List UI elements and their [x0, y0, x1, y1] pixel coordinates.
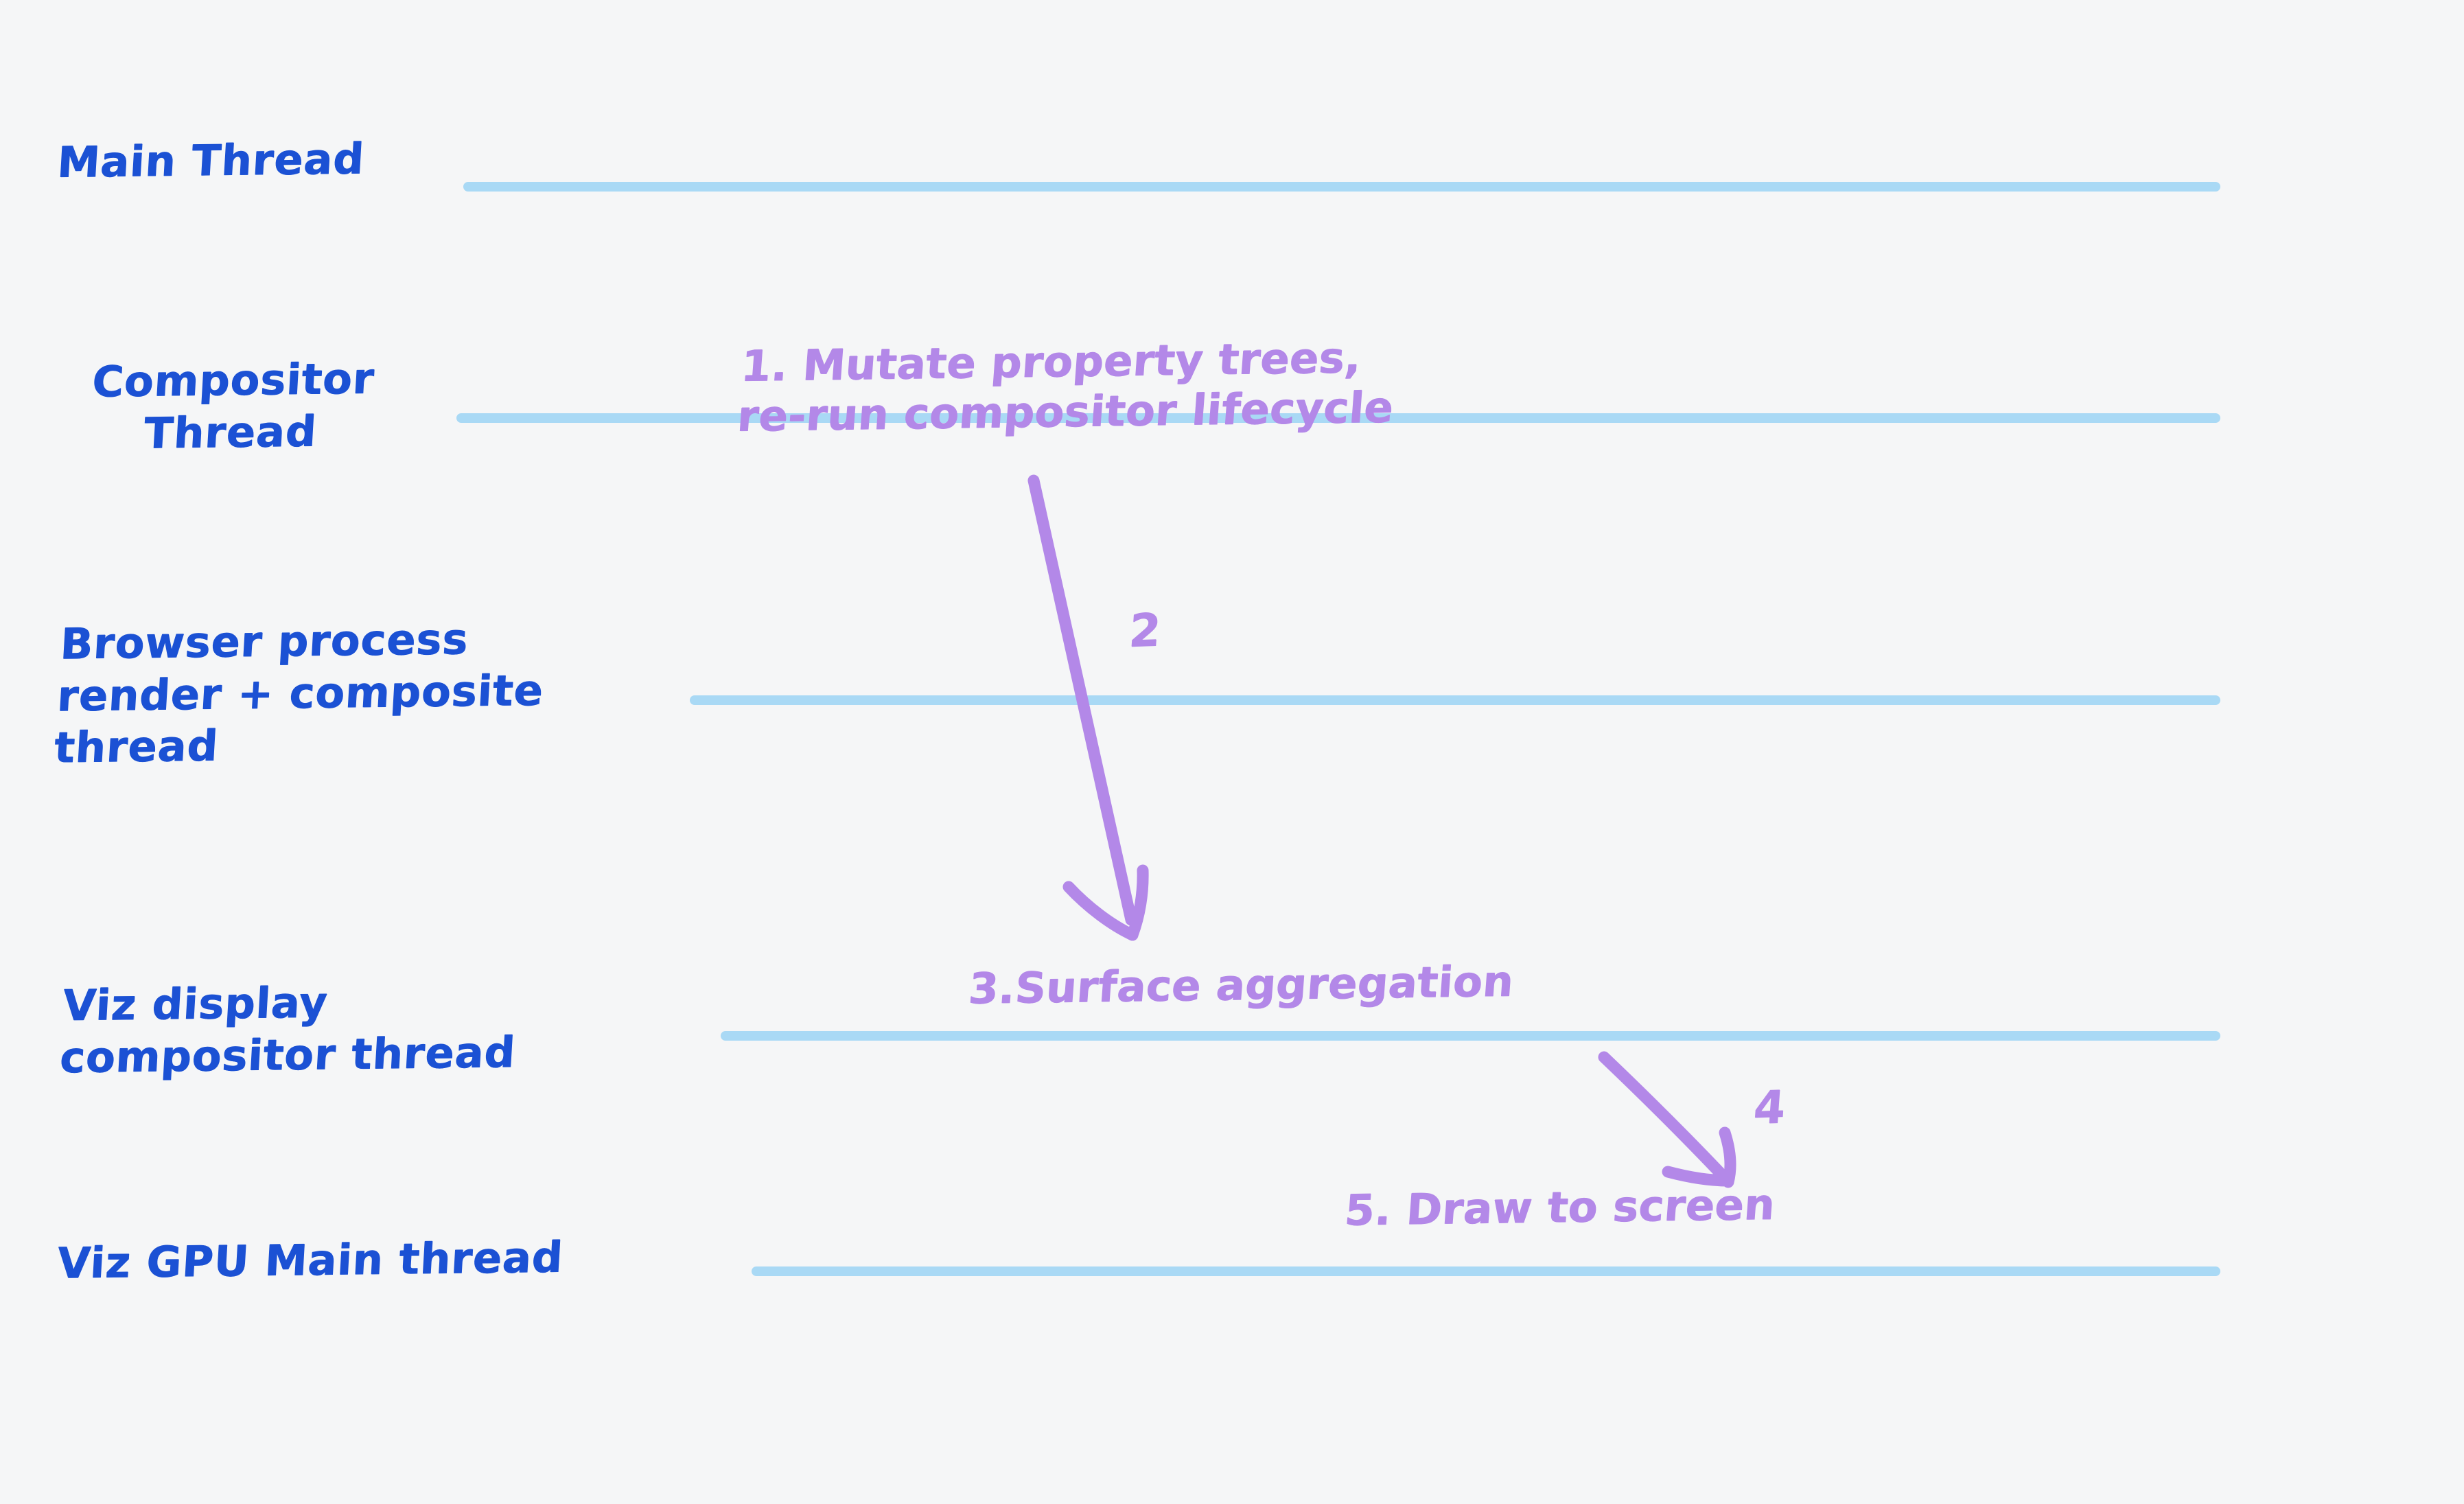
- lane-line-viz-gpu-main-thread: [752, 1266, 2220, 1276]
- arrow-4-icon: [1604, 1057, 1730, 1182]
- diagram-canvas: Main Thread Compositor Thread Browser pr…: [0, 0, 2464, 1504]
- lane-label-main-thread: Main Thread: [56, 132, 367, 188]
- lane-line-viz-display-compositor: [721, 1031, 2220, 1041]
- annotation-step-3: 3.Surface aggregation: [967, 956, 1515, 1013]
- lane-label-viz-gpu-main-thread: Viz GPU Main thread: [56, 1231, 565, 1290]
- lane-label-browser-process-thread: Browser process render + composite threa…: [53, 612, 548, 774]
- lane-label-compositor-thread: Compositor Thread: [50, 352, 413, 461]
- lane-line-main-thread: [463, 182, 2220, 192]
- arrow-2-icon: [1034, 481, 1143, 935]
- lane-line-browser-process-thread: [690, 695, 2220, 705]
- annotation-step-5: 5. Draw to screen: [1343, 1179, 1777, 1236]
- annotation-step-1: 1. Mutate property trees, re-run composi…: [736, 332, 1399, 441]
- annotation-step-2: 2: [1127, 603, 1162, 658]
- annotation-step-4: 4: [1752, 1080, 1787, 1135]
- lane-label-viz-display-compositor: Viz display compositor thread: [58, 974, 520, 1083]
